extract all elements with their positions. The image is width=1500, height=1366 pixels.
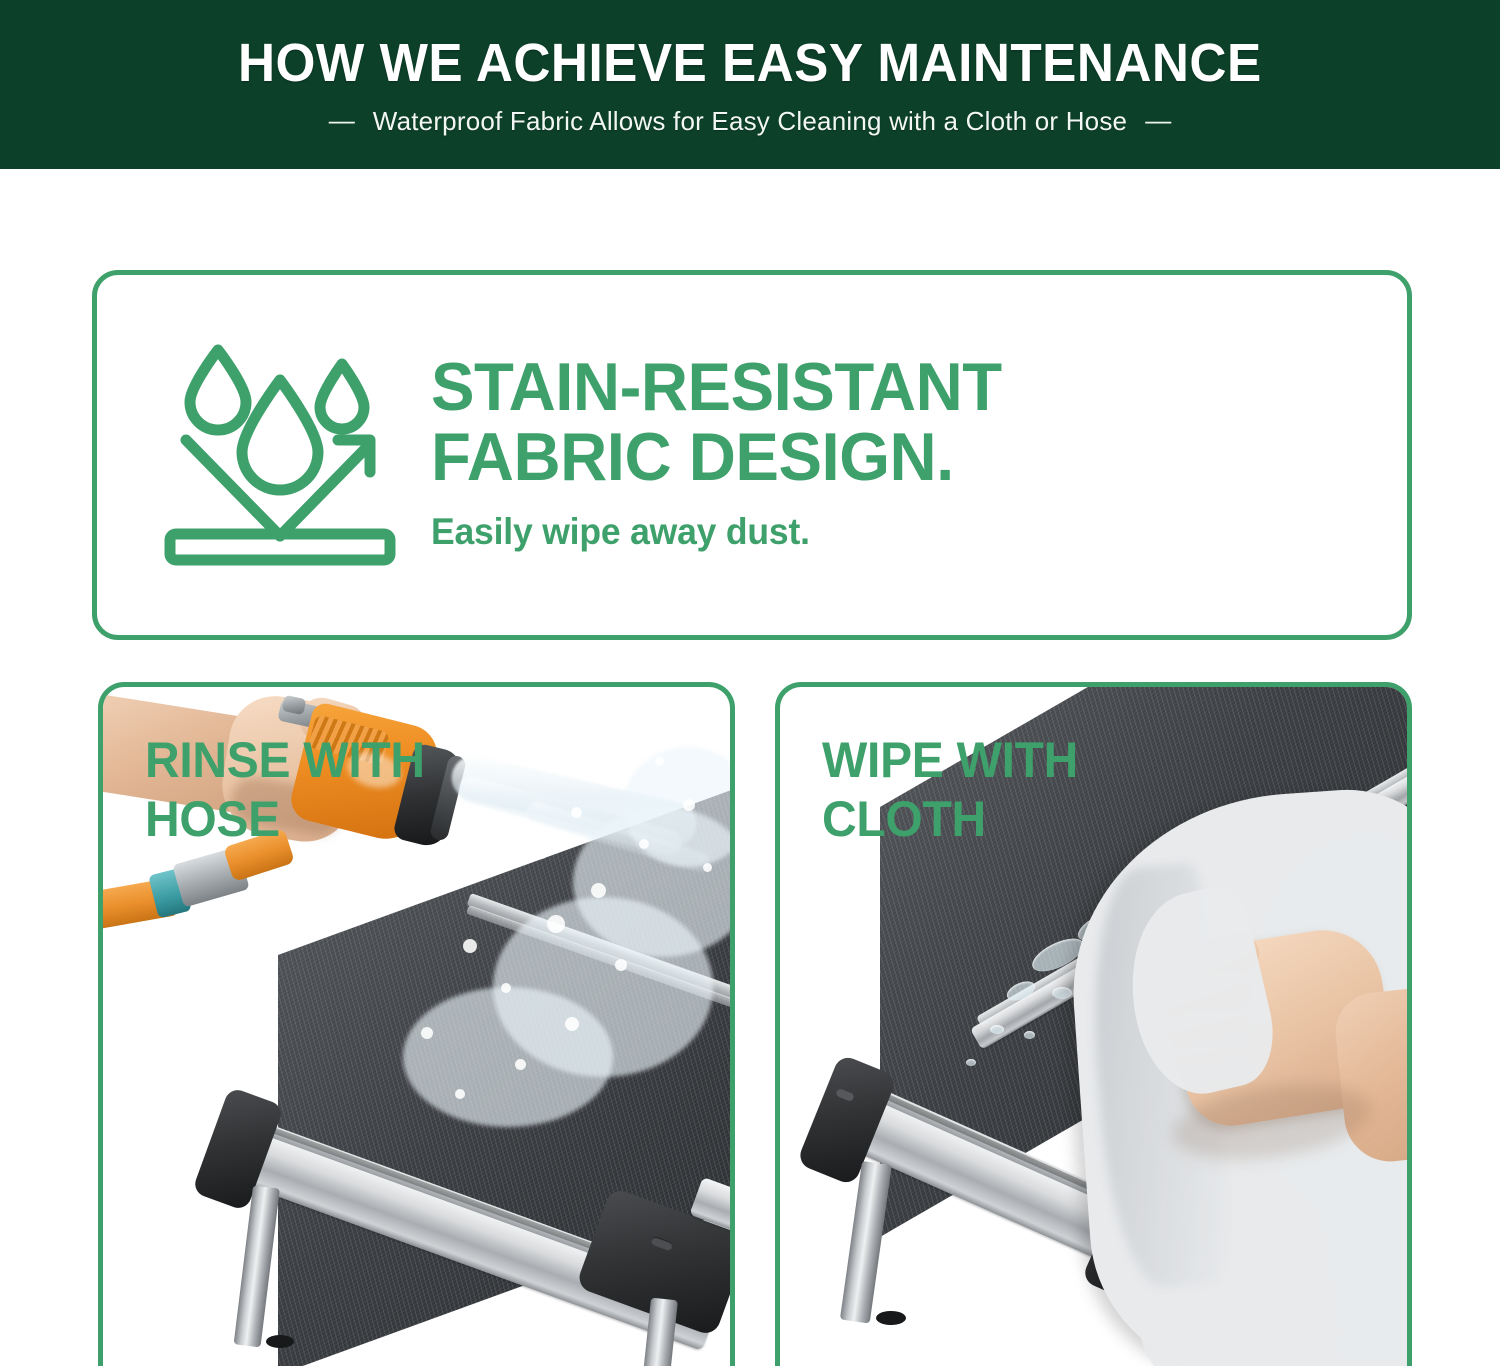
wipe-heading: WIPE WITH CLOTH [822, 731, 1078, 849]
feature-text-block: STAIN-RESISTANT FABRIC DESIGN. Easily wi… [431, 352, 1025, 559]
dash-right-icon: — [1145, 107, 1171, 133]
feature-subtext: Easily wipe away dust. [431, 512, 1002, 553]
cot-leg-left [234, 1185, 280, 1347]
water-repellent-drops-icon [149, 336, 411, 574]
wipe-card: WIPE WITH CLOTH [775, 682, 1412, 1366]
splash-droplet-2 [571, 807, 582, 818]
water-droplet-4 [1052, 987, 1072, 999]
splash-droplet-3 [608, 775, 621, 788]
feature-card: STAIN-RESISTANT FABRIC DESIGN. Easily wi… [92, 270, 1412, 640]
water-droplet-8 [966, 1059, 976, 1066]
splash-droplet-15 [703, 863, 712, 872]
splash-droplet-16 [455, 1089, 465, 1099]
feature-heading-line2: FABRIC DESIGN. [431, 422, 1002, 492]
rinse-card: RINSE WITH HOSE [98, 682, 735, 1366]
splash-droplet-7 [547, 915, 565, 933]
page-subtitle: Waterproof Fabric Allows for Easy Cleani… [373, 106, 1127, 137]
rinse-heading: RINSE WITH HOSE [145, 731, 425, 849]
page-title: HOW WE ACHIEVE EASY MAINTENANCE [238, 36, 1262, 90]
splash-droplet-5 [463, 939, 477, 953]
splash-droplet-9 [591, 883, 606, 898]
cot-leg-left [840, 1161, 892, 1324]
cot-leg-left-cap [876, 1311, 906, 1325]
splash-cloud-3 [403, 987, 613, 1127]
water-droplet-6 [1024, 1031, 1035, 1039]
splash-droplet-6 [501, 983, 511, 993]
splash-droplet-4 [655, 757, 664, 766]
splash-droplet-12 [515, 1059, 526, 1070]
splash-droplet-11 [683, 799, 695, 811]
splash-droplet-13 [565, 1017, 579, 1031]
water-droplet-5 [990, 1025, 1004, 1034]
page-header: HOW WE ACHIEVE EASY MAINTENANCE — Waterp… [0, 0, 1500, 169]
splash-droplet-10 [639, 839, 649, 849]
splash-droplet-8 [421, 1027, 433, 1039]
feature-heading-line1: STAIN-RESISTANT [431, 352, 1002, 422]
splash-droplet-14 [615, 959, 627, 971]
page-subtitle-row: — Waterproof Fabric Allows for Easy Clea… [329, 106, 1171, 137]
splash-droplet-1 [533, 843, 549, 859]
infographic-page: HOW WE ACHIEVE EASY MAINTENANCE — Waterp… [0, 0, 1500, 1366]
dash-left-icon: — [329, 107, 355, 133]
cot-leg-left-cap [266, 1335, 294, 1348]
